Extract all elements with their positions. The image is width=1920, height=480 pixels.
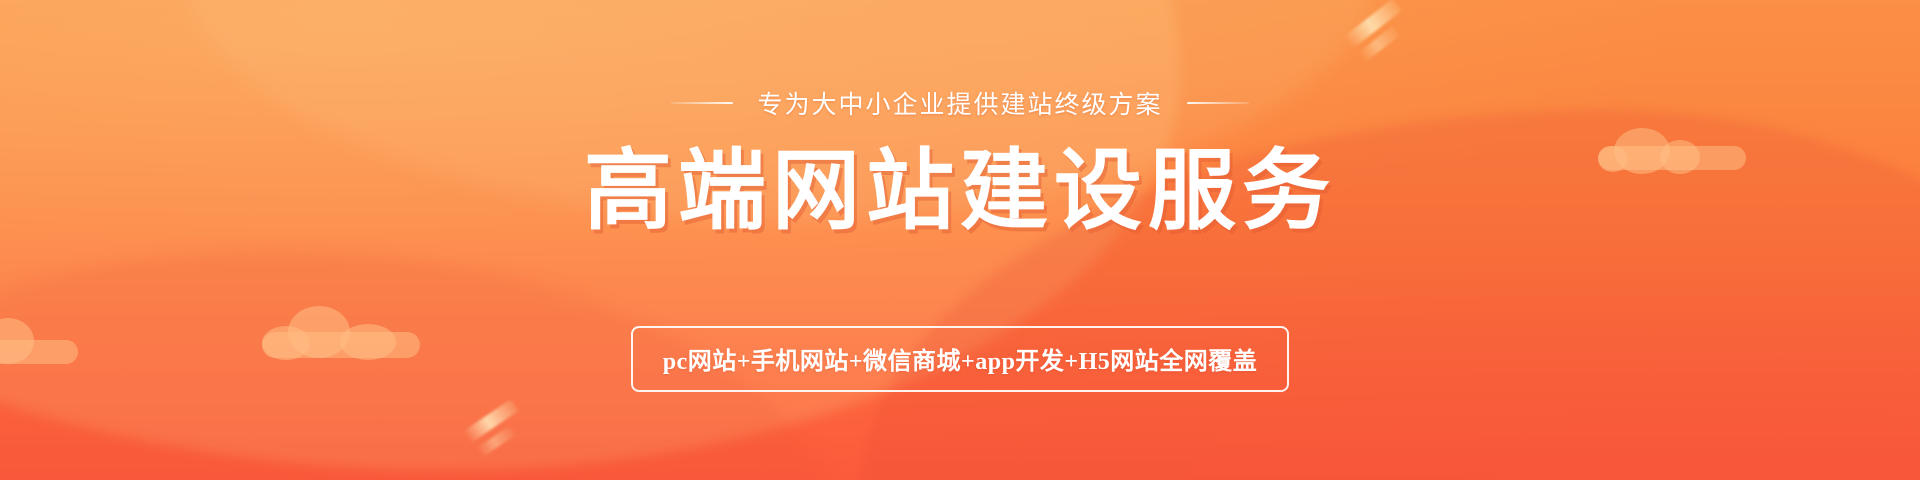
- divider-line-left: [671, 102, 733, 104]
- services-badge: pc网站+手机网站+微信商城+app开发+H5网站全网覆盖: [631, 326, 1290, 392]
- subtitle-row: 专为大中小企业提供建站终级方案: [671, 86, 1248, 120]
- banner-subtitle: 专为大中小企业提供建站终级方案: [757, 85, 1162, 121]
- banner-headline: 高端网站建设服务: [584, 142, 1336, 241]
- banner-content: 专为大中小企业提供建站终级方案 高端网站建设服务 pc网站+手机网站+微信商城+…: [0, 0, 1920, 480]
- divider-line-right: [1187, 102, 1249, 104]
- hero-banner: 专为大中小企业提供建站终级方案 高端网站建设服务 pc网站+手机网站+微信商城+…: [0, 0, 1920, 480]
